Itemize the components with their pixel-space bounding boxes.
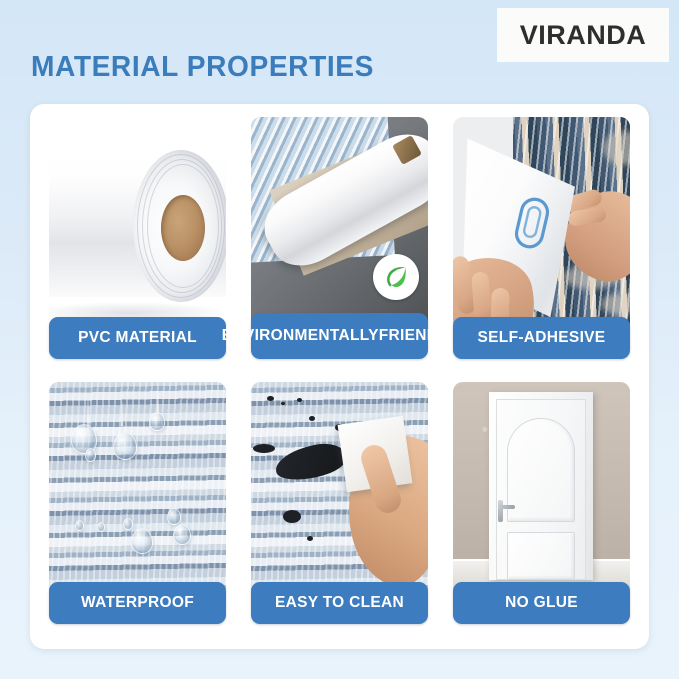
wood-texture <box>49 382 226 597</box>
features-grid: PVC MATERIAL <box>49 117 630 624</box>
water-droplet <box>113 432 137 460</box>
pvc-roll-image <box>49 117 226 332</box>
stain-dot <box>297 398 302 402</box>
stain-dot <box>267 396 274 401</box>
door-panel-bottom <box>507 532 575 580</box>
leaf-icon <box>381 262 411 292</box>
feature-tile-easy-to-clean[interactable]: EASY TO CLEAN <box>251 382 428 624</box>
easy-to-clean-image <box>251 382 428 597</box>
water-droplet <box>173 524 191 545</box>
roll-cardboard-core <box>161 195 205 261</box>
door-panel-top <box>507 418 575 522</box>
water-droplet <box>149 412 165 431</box>
feature-label-self-adhesive: SELF-ADHESIVE <box>453 317 630 359</box>
stain-dot <box>307 536 313 541</box>
no-glue-image <box>453 382 630 597</box>
stain-dot <box>309 416 315 421</box>
feature-label-pvc-material: PVC MATERIAL <box>49 317 226 359</box>
feature-tile-environmentally-friendly[interactable]: ENVIRONMENTALLYFRIENDLY <box>251 117 428 359</box>
water-droplet <box>85 448 96 462</box>
page-title: MATERIAL PROPERTIES <box>31 51 374 84</box>
feature-tile-no-glue[interactable]: NO GLUE <box>453 382 630 624</box>
water-trail <box>157 388 159 414</box>
water-droplet <box>123 518 133 530</box>
feature-tile-waterproof[interactable]: WATERPROOF <box>49 382 226 624</box>
feature-label-easy-to-clean: EASY TO CLEAN <box>251 582 428 624</box>
features-card: PVC MATERIAL <box>30 104 649 649</box>
brand-logo-box: VIRANDA <box>497 8 669 62</box>
feature-label-no-glue: NO GLUE <box>453 582 630 624</box>
water-droplet <box>75 520 84 531</box>
water-droplet <box>131 528 153 554</box>
door-handle-bar <box>498 505 515 509</box>
water-trail <box>121 396 123 426</box>
water-droplet <box>167 508 181 525</box>
stain-dot <box>281 402 285 405</box>
self-adhesive-image <box>453 117 630 332</box>
leaf-badge <box>373 254 419 300</box>
feature-label-environmentally-friendly: ENVIRONMENTALLYFRIENDLY <box>251 313 428 359</box>
stain-dot <box>253 444 275 453</box>
stain-dot <box>283 510 301 523</box>
door-handle <box>498 500 503 522</box>
feature-tile-pvc-material[interactable]: PVC MATERIAL <box>49 117 226 359</box>
waterproof-image <box>49 382 226 597</box>
brand-logo-text: VIRANDA <box>520 20 647 51</box>
rolled-wallpaper-image <box>251 117 428 332</box>
water-droplet <box>97 522 105 532</box>
feature-label-waterproof: WATERPROOF <box>49 582 226 624</box>
feature-tile-self-adhesive[interactable]: SELF-ADHESIVE <box>453 117 630 359</box>
